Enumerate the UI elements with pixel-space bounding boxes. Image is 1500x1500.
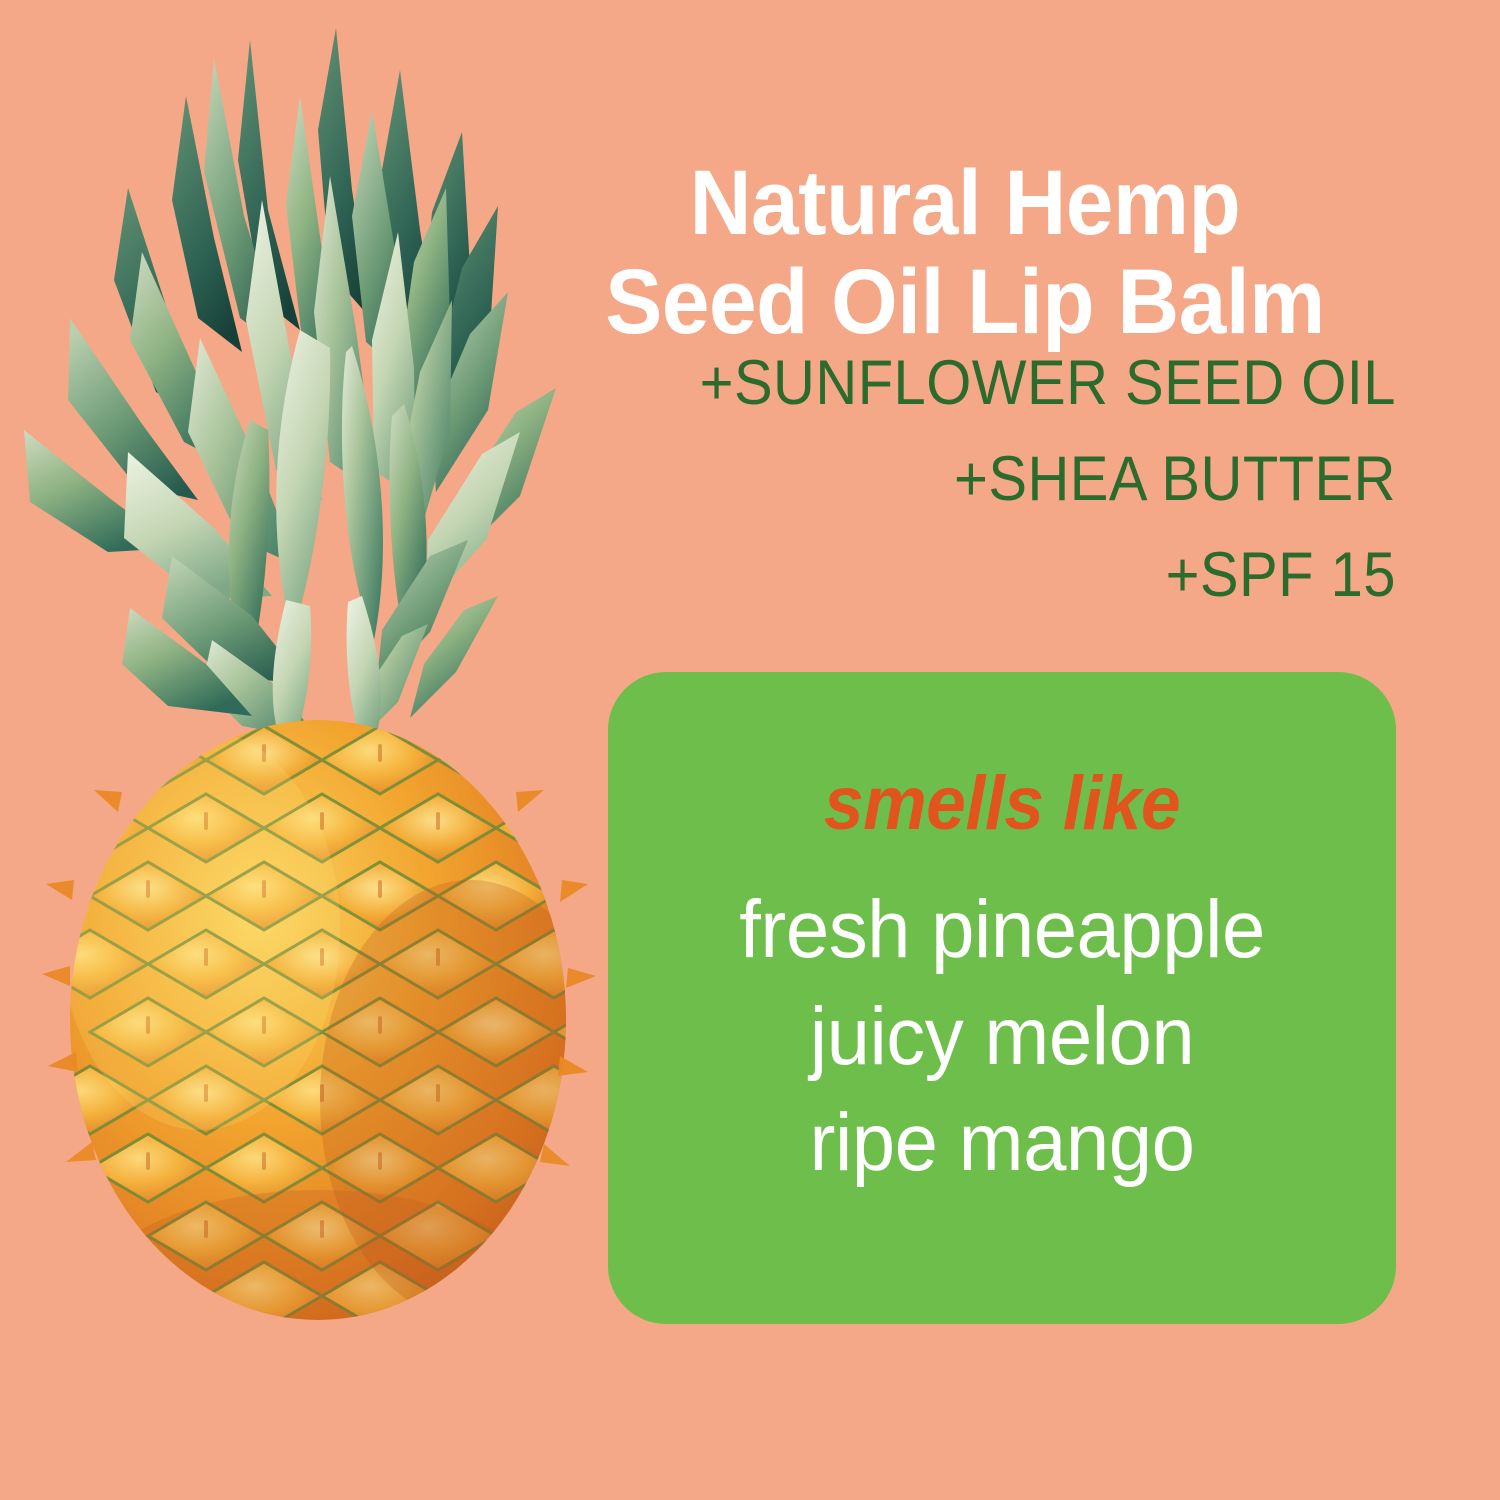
scent-note-list: fresh pineapple juicy melon ripe mango — [608, 877, 1396, 1197]
ingredient-item: +SUNFLOWER SEED OIL — [599, 336, 1396, 432]
scent-card-eyebrow: smells like — [632, 766, 1373, 842]
ingredient-list: +SUNFLOWER SEED OIL +SHEA BUTTER +SPF 15 — [530, 336, 1396, 623]
scent-note: fresh pineapple — [628, 877, 1377, 984]
text-column: Natural Hemp Seed Oil Lip Balm +SUNFLOWE… — [530, 0, 1400, 1500]
ingredient-item: +SHEA BUTTER — [599, 432, 1396, 528]
product-title-line-1: Natural Hemp — [560, 154, 1369, 253]
ingredient-item: +SPF 15 — [599, 528, 1396, 624]
scent-card: smells like fresh pineapple juicy melon … — [608, 672, 1396, 1324]
product-marketing-image: Natural Hemp Seed Oil Lip Balm +SUNFLOWE… — [0, 0, 1500, 1500]
page-title: Natural Hemp Seed Oil Lip Balm — [560, 154, 1369, 353]
scent-note: ripe mango — [628, 1090, 1377, 1197]
scent-note: juicy melon — [628, 984, 1377, 1091]
